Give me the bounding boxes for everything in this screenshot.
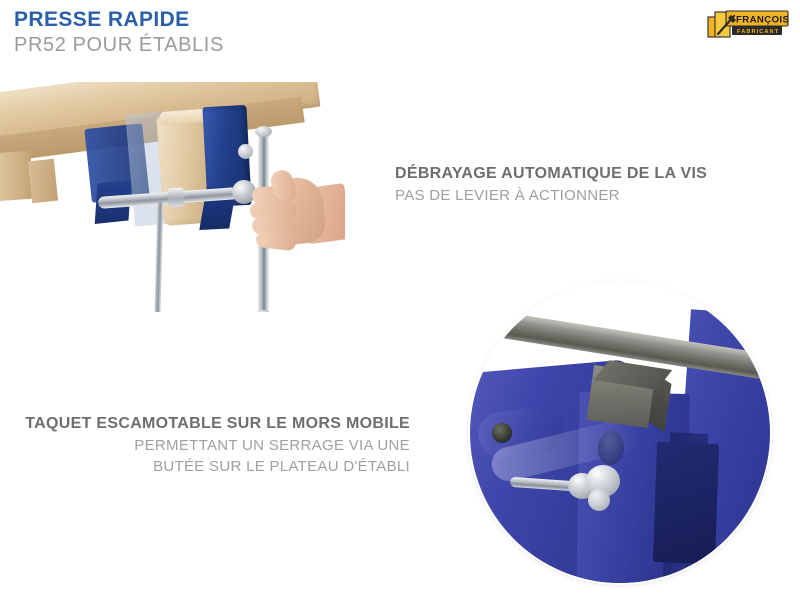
callout-dog-subtext-1: PERMETTANT UN SERRAGE VIA UNE xyxy=(10,435,410,456)
vise-bolt-hole xyxy=(492,423,512,443)
vise-rod-collar xyxy=(167,187,184,207)
product-sheet-page: PRESSE RAPIDE PR52 POUR ÉTABLIS FRANÇOIS… xyxy=(0,0,800,600)
main-product-photo xyxy=(0,82,345,312)
brand-logo-name: FRANÇOIS xyxy=(736,14,790,25)
brand-logo-svg: FRANÇOIS FABRICANT xyxy=(706,9,792,45)
page-title-block: PRESSE RAPIDE PR52 POUR ÉTABLIS xyxy=(14,8,224,58)
callout-screw-release: DÉBRAYAGE AUTOMATIQUE DE LA VIS PAS DE L… xyxy=(395,163,707,206)
callout-retractable-dog: TAQUET ESCAMOTABLE SUR LE MORS MOBILE PE… xyxy=(10,413,410,477)
handle-top-cap xyxy=(255,126,272,137)
brand-logo: FRANÇOIS FABRICANT xyxy=(706,9,792,45)
callout-dog-subtext-2: BUTÉE SUR LE PLATEAU D'ÉTABLI xyxy=(10,456,410,477)
vise-upper-knob xyxy=(238,144,253,159)
vise-body-recess xyxy=(653,442,719,564)
workbench-leg xyxy=(28,159,58,203)
callout-dog-heading: TAQUET ESCAMOTABLE SUR LE MORS MOBILE xyxy=(10,413,410,435)
callout-screw-subtext-1: PAS DE LEVIER À ACTIONNER xyxy=(395,185,707,206)
brand-logo-tagline: FABRICANT xyxy=(737,29,779,35)
handle-bottom-cap xyxy=(255,310,272,312)
page-title: PRESSE RAPIDE xyxy=(14,8,224,32)
detail-photo-circle xyxy=(470,283,770,583)
dog-lever-knob-c xyxy=(588,489,610,511)
callout-screw-heading: DÉBRAYAGE AUTOMATIQUE DE LA VIS xyxy=(395,163,707,185)
page-subtitle: PR52 POUR ÉTABLIS xyxy=(14,33,224,58)
